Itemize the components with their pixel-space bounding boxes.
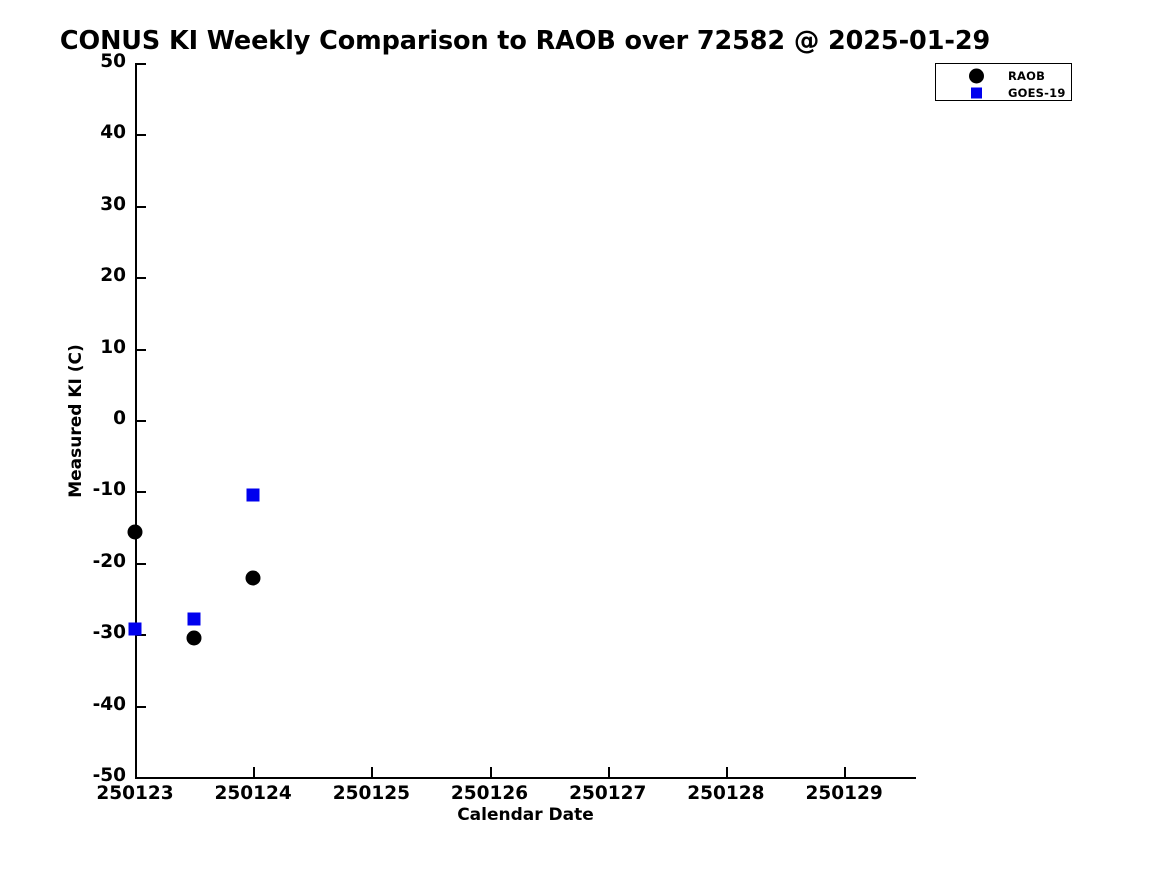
y-tick: 30 bbox=[135, 206, 146, 208]
x-tick-label: 250124 bbox=[215, 784, 292, 804]
y-tick-label: 0 bbox=[113, 409, 126, 429]
chart-legend: RAOBGOES-19 bbox=[935, 63, 1072, 101]
x-tick-label: 250125 bbox=[333, 784, 410, 804]
x-tick bbox=[490, 767, 492, 778]
legend-label: GOES-19 bbox=[1008, 86, 1066, 100]
legend-entry: GOES-19 bbox=[936, 84, 1071, 102]
x-tick bbox=[726, 767, 728, 778]
y-tick-label: 50 bbox=[100, 52, 126, 72]
y-tick-label: -20 bbox=[93, 552, 126, 572]
x-tick-label: 250128 bbox=[687, 784, 764, 804]
data-point-raob bbox=[187, 631, 202, 646]
chart-figure: CONUS KI Weekly Comparison to RAOB over … bbox=[0, 0, 1167, 875]
y-tick-label: 30 bbox=[100, 195, 126, 215]
plot-area: 50403020100-10-20-30-40-50 2501232501242… bbox=[135, 64, 915, 778]
y-tick-label: 40 bbox=[100, 123, 126, 143]
x-tick bbox=[371, 767, 373, 778]
x-axis-label: Calendar Date bbox=[135, 805, 916, 825]
x-tick bbox=[844, 767, 846, 778]
y-tick-label: -40 bbox=[93, 695, 126, 715]
data-point-goes-19 bbox=[188, 613, 201, 626]
y-tick-label: 10 bbox=[100, 338, 126, 358]
data-point-raob bbox=[246, 571, 261, 586]
legend-circle-icon bbox=[969, 69, 984, 84]
legend-entry: RAOB bbox=[936, 67, 1071, 85]
x-tick-label: 250126 bbox=[451, 784, 528, 804]
y-tick: -40 bbox=[135, 706, 146, 708]
x-tick-label: 250129 bbox=[805, 784, 882, 804]
y-axis-label: Measured KI (C) bbox=[63, 64, 89, 778]
x-tick bbox=[135, 767, 137, 778]
data-point-goes-19 bbox=[247, 489, 260, 502]
x-tick-label: 250127 bbox=[569, 784, 646, 804]
y-tick: -20 bbox=[135, 563, 146, 565]
data-point-goes-19 bbox=[129, 623, 142, 636]
x-tick bbox=[608, 767, 610, 778]
legend-label: RAOB bbox=[1008, 69, 1045, 83]
data-point-raob bbox=[128, 524, 143, 539]
y-tick: 10 bbox=[135, 349, 146, 351]
y-tick: -10 bbox=[135, 491, 146, 493]
y-tick-label: -30 bbox=[93, 623, 126, 643]
y-tick: 0 bbox=[135, 420, 146, 422]
legend-square-icon bbox=[971, 88, 982, 99]
y-tick: 40 bbox=[135, 134, 146, 136]
y-tick-label: -10 bbox=[93, 480, 126, 500]
x-tick bbox=[253, 767, 255, 778]
y-tick: 20 bbox=[135, 277, 146, 279]
chart-title: CONUS KI Weekly Comparison to RAOB over … bbox=[0, 26, 1050, 56]
y-tick-label: 20 bbox=[100, 266, 126, 286]
x-tick-label: 250123 bbox=[96, 784, 173, 804]
y-tick: 50 bbox=[135, 63, 146, 65]
